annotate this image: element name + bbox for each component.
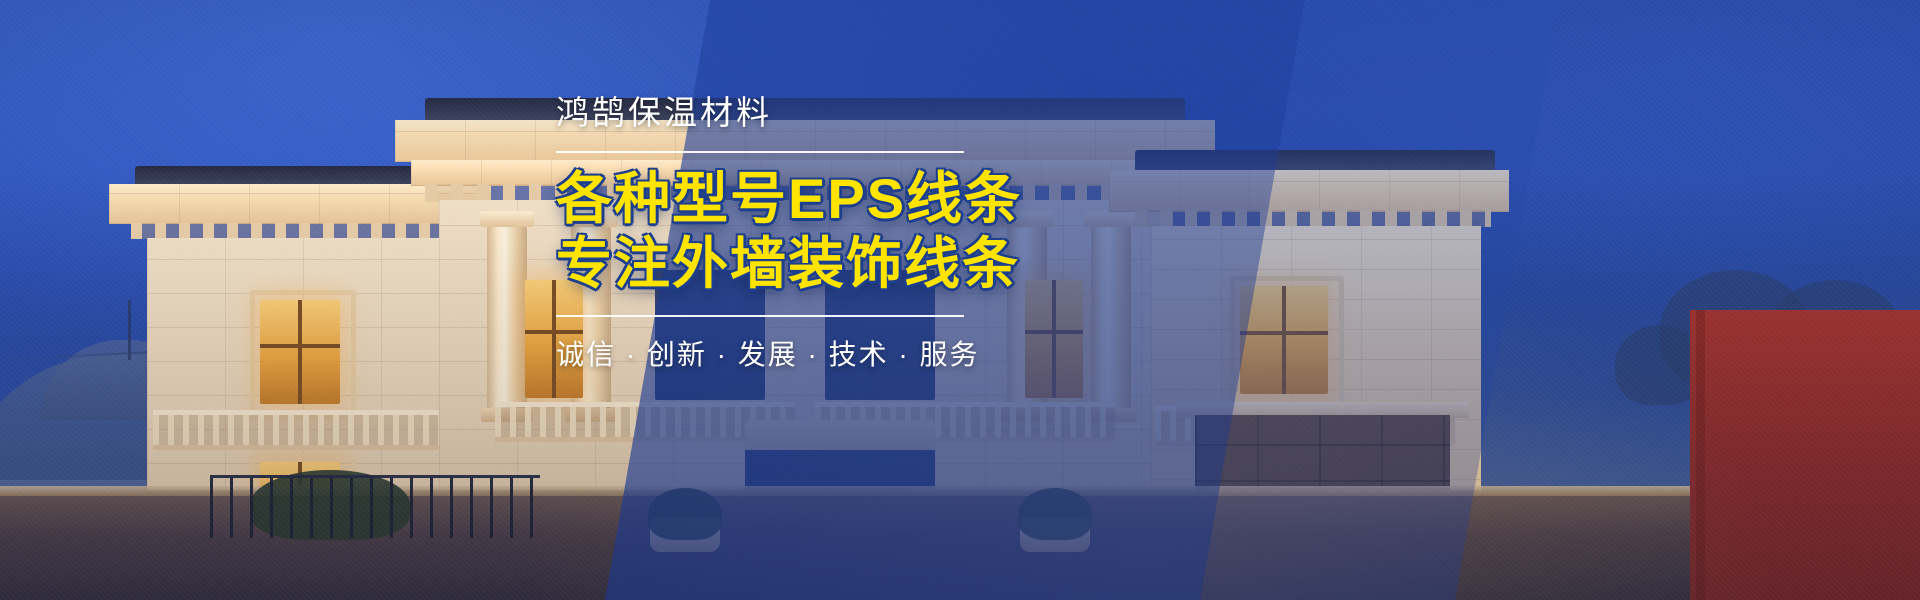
headline-line-2: 专注外墙装饰线条 [556,232,1026,297]
balustrade [153,410,453,450]
column [487,225,527,410]
left-wing-dentil-moulding [131,223,471,239]
divider-top [556,151,964,153]
divider-bottom [556,315,964,317]
red-wall [1690,310,1920,600]
promo-banner: 鸿鹄保温材料 各种型号EPS线条 专注外墙装饰线条 诚信 · 创新 · 发展 ·… [0,0,1920,600]
right-wing-dentil-moulding [1135,210,1491,227]
red-wall-edge [1696,310,1705,600]
iron-railing [210,475,540,538]
banner-copy: 鸿鹄保温材料 各种型号EPS线条 专注外墙装饰线条 诚信 · 创新 · 发展 ·… [556,96,1026,373]
lit-window [1240,286,1328,394]
shrub [1018,488,1092,540]
headline-line-1: 各种型号EPS线条 [556,167,1026,232]
lit-window [260,300,340,404]
brand-name: 鸿鹄保温材料 [556,96,1026,129]
lit-window [1025,280,1083,398]
right-wing-cornice [1109,170,1509,212]
tagline: 诚信 · 创新 · 发展 · 技术 · 服务 [556,333,1026,373]
column [1091,225,1131,410]
shrub [648,488,722,540]
